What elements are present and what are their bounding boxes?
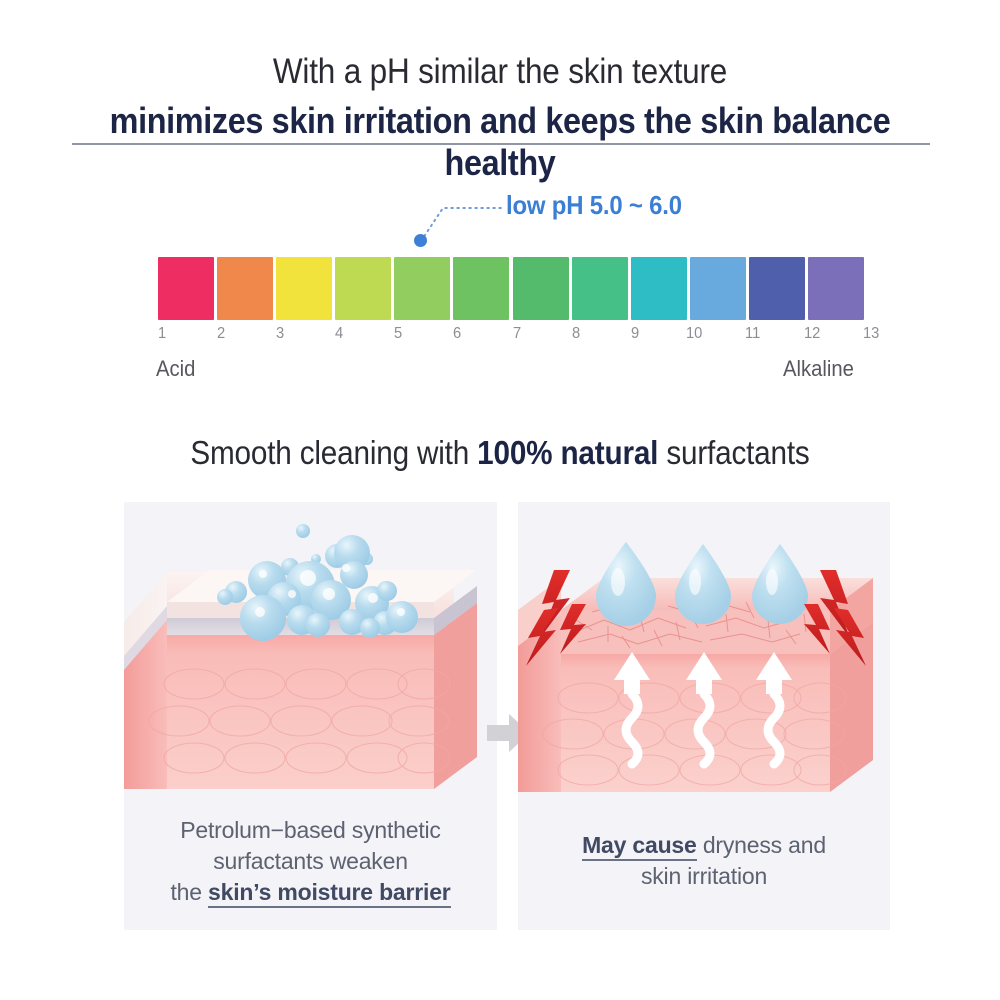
ph-tick-4: 4	[335, 325, 343, 343]
infographic-page: With a pH similar the skin texture minim…	[0, 0, 1000, 1000]
ph-tick-1: 1	[158, 325, 166, 343]
ph-swatch-3	[276, 257, 332, 320]
ph-tick-6: 6	[453, 325, 461, 343]
panel-right: May cause dryness and skin irritation	[518, 502, 890, 930]
ph-swatch-9	[631, 257, 687, 320]
skin-block-with-foam-illustration	[124, 502, 497, 822]
ph-callout-label: low pH 5.0 ~ 6.0	[506, 190, 682, 221]
damaged-skin-illustration	[518, 502, 890, 832]
ph-swatch-6	[453, 257, 509, 320]
panel-left-caption-line1: Petrolum−based synthetic	[124, 815, 497, 846]
section2-heading-post: surfactants	[658, 434, 809, 471]
ph-alkaline-label: Alkaline	[783, 356, 854, 382]
ph-acid-label: Acid	[156, 356, 195, 382]
panel-right-caption: May cause dryness and skin irritation	[518, 830, 890, 892]
ph-swatch-11	[749, 257, 805, 320]
ph-tick-labels: 12345678910111213	[0, 325, 1000, 347]
ph-swatch-10	[690, 257, 746, 320]
ph-tick-13: 13	[863, 325, 879, 343]
panel-left-caption: Petrolum−based synthetic surfactants wea…	[124, 815, 497, 908]
water-droplets	[596, 542, 808, 626]
panel-right-caption-post: dryness and	[697, 832, 826, 858]
ph-tick-3: 3	[276, 325, 284, 343]
ph-tick-5: 5	[394, 325, 402, 343]
ph-swatch-5	[394, 257, 450, 320]
ph-swatch-2	[217, 257, 273, 320]
ph-swatch-12	[808, 257, 864, 320]
section2-heading: Smooth cleaning with 100% natural surfac…	[50, 434, 950, 472]
ph-tick-8: 8	[572, 325, 580, 343]
panel-right-caption-line1: May cause dryness and	[518, 830, 890, 861]
panel-left-caption-line3-pre: the	[170, 879, 208, 905]
headline-underline	[72, 143, 930, 145]
ph-tick-11: 11	[745, 325, 760, 343]
ph-tick-12: 12	[804, 325, 820, 343]
ph-tick-2: 2	[217, 325, 225, 343]
panel-left-caption-line3-strong: skin’s moisture barrier	[208, 879, 451, 908]
section2-heading-pre: Smooth cleaning with	[190, 434, 477, 471]
headline-line-2-wrap: minimizes skin irritation and keeps the …	[0, 100, 1000, 184]
ph-swatch-7	[513, 257, 569, 320]
panel-right-caption-strong: May cause	[582, 832, 697, 861]
callout-marker-dot	[414, 234, 427, 247]
ph-tick-9: 9	[631, 325, 639, 343]
ph-swatch-8	[572, 257, 628, 320]
ph-scale	[158, 257, 864, 320]
panel-left-caption-line2: surfactants weaken	[124, 846, 497, 877]
headline-line-2: minimizes skin irritation and keeps the …	[50, 100, 950, 184]
headline-line-1: With a pH similar the skin texture	[50, 52, 950, 92]
panel-left: Petrolum−based synthetic surfactants wea…	[124, 502, 497, 930]
section2-heading-strong: 100% natural	[477, 434, 658, 471]
panel-right-caption-line2: skin irritation	[518, 861, 890, 892]
ph-tick-7: 7	[513, 325, 521, 343]
ph-tick-10: 10	[686, 325, 702, 343]
ph-swatch-1	[158, 257, 214, 320]
ph-swatch-4	[335, 257, 391, 320]
panel-left-caption-line3: the skin’s moisture barrier	[124, 877, 497, 908]
